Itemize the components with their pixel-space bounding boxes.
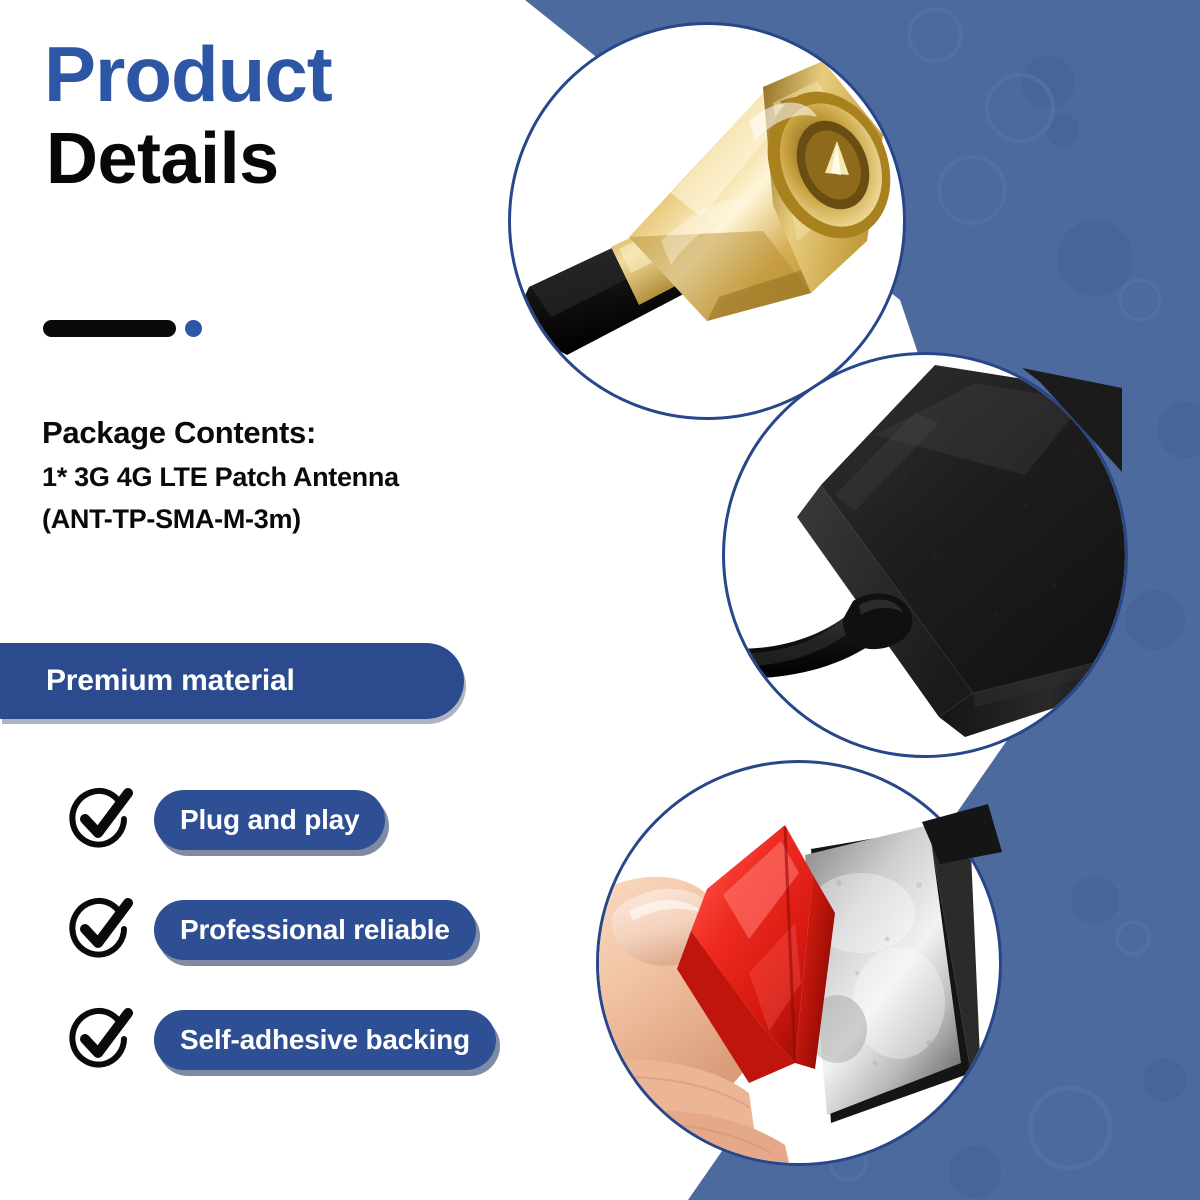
package-contents-line-2: (ANT-TP-SMA-M-3m)	[42, 504, 552, 535]
feature-list: Plug and play Professional reliable	[66, 784, 496, 1076]
divider-bar	[43, 320, 176, 337]
feature-pill: Professional reliable	[154, 900, 476, 960]
feature-label: Self-adhesive backing	[180, 1024, 470, 1056]
photo-adhesive-backing	[596, 760, 1002, 1166]
feature-pill: Self-adhesive backing	[154, 1010, 496, 1070]
check-circle-icon	[66, 1004, 138, 1076]
check-circle-icon	[66, 894, 138, 966]
feature-label: Plug and play	[180, 804, 359, 836]
list-item: Self-adhesive backing	[66, 1004, 496, 1076]
feature-label: Professional reliable	[180, 914, 450, 946]
feature-pill: Plug and play	[154, 790, 385, 850]
premium-material-label: Premium material	[46, 664, 295, 698]
premium-material-banner: Premium material	[0, 643, 464, 719]
title-line-details: Details	[46, 124, 332, 195]
package-contents-block: Package Contents: 1* 3G 4G LTE Patch Ant…	[42, 415, 552, 535]
divider-dot	[185, 320, 202, 337]
patch-antenna-illustration	[725, 355, 1125, 755]
check-circle-icon	[66, 784, 138, 856]
package-contents-line-1: 1* 3G 4G LTE Patch Antenna	[42, 462, 552, 493]
product-details-graphic: Product Details Package Contents: 1* 3G …	[0, 0, 1200, 1200]
title-divider	[43, 320, 202, 337]
title-line-product: Product	[44, 36, 332, 112]
photo-patch-antenna	[722, 352, 1128, 758]
adhesive-peel-illustration	[599, 763, 999, 1163]
package-contents-heading: Package Contents:	[42, 415, 552, 451]
page-title: Product Details	[44, 36, 332, 195]
list-item: Plug and play	[66, 784, 496, 856]
left-content-column: Product Details Package Contents: 1* 3G …	[0, 0, 560, 1200]
list-item: Professional reliable	[66, 894, 496, 966]
